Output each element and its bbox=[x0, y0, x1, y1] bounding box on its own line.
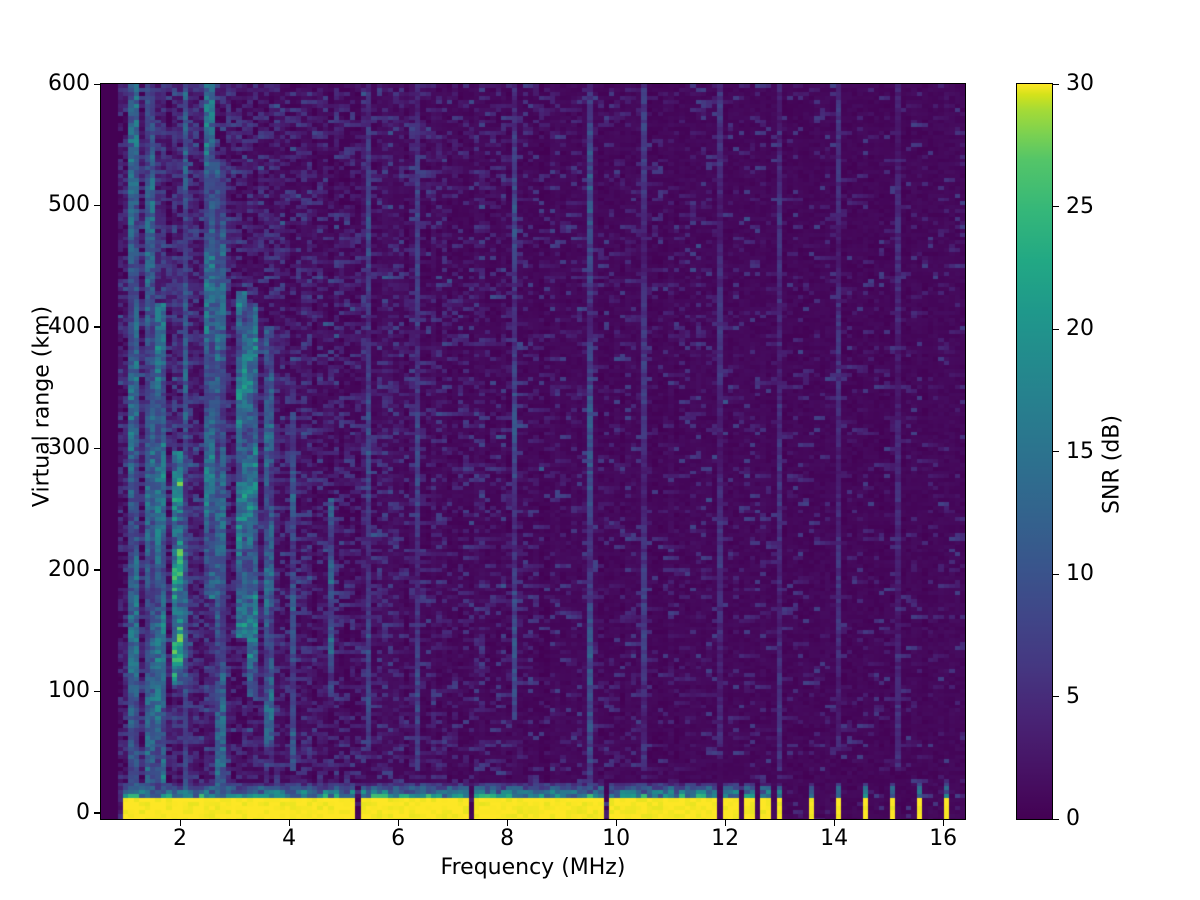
y-axis-tick-mark bbox=[94, 205, 100, 206]
y-axis-tick-mark bbox=[94, 448, 100, 449]
x-axis-tick-label: 10 bbox=[576, 828, 656, 850]
x-axis-tick-label: 14 bbox=[794, 828, 874, 850]
ionogram-figure: IRF Uppsala SDR Ionosonde UP158 2026-03-… bbox=[0, 0, 1200, 900]
colorbar-tick-mark bbox=[1053, 696, 1059, 697]
ionogram-heatmap-canvas[interactable] bbox=[101, 84, 965, 819]
colorbar-gradient bbox=[1017, 84, 1052, 819]
x-axis-tick-label: 12 bbox=[685, 828, 765, 850]
x-axis-label: Frequency (MHz) bbox=[100, 855, 966, 880]
y-axis-tick-mark bbox=[94, 84, 100, 85]
colorbar-tick-label: 20 bbox=[1066, 318, 1094, 340]
colorbar-tick-label: 5 bbox=[1066, 686, 1080, 708]
colorbar-tick-label: 10 bbox=[1066, 563, 1094, 585]
colorbar-label: SNR (dB) bbox=[1100, 305, 1125, 625]
y-axis-tick-label: 0 bbox=[76, 802, 90, 824]
colorbar-tick-label: 15 bbox=[1066, 441, 1094, 463]
y-axis-tick-label: 600 bbox=[48, 73, 90, 95]
colorbar-tick-label: 0 bbox=[1066, 808, 1080, 830]
y-axis-tick-mark bbox=[94, 326, 100, 327]
colorbar-tick-mark bbox=[1053, 574, 1059, 575]
colorbar-tick-mark bbox=[1053, 819, 1059, 820]
colorbar-tick-label: 30 bbox=[1066, 73, 1094, 95]
y-axis-tick-mark bbox=[94, 812, 100, 813]
x-axis-tick-label: 2 bbox=[140, 828, 220, 850]
x-axis-tick-label: 4 bbox=[249, 828, 329, 850]
colorbar[interactable] bbox=[1016, 83, 1053, 820]
x-axis-tick-label: 8 bbox=[467, 828, 547, 850]
colorbar-tick-mark bbox=[1053, 84, 1059, 85]
y-axis-label: Virtual range (km) bbox=[30, 197, 55, 617]
y-axis-tick-label: 100 bbox=[48, 680, 90, 702]
colorbar-tick-label: 25 bbox=[1066, 196, 1094, 218]
colorbar-tick-mark bbox=[1053, 329, 1059, 330]
y-axis-tick-mark bbox=[94, 569, 100, 570]
ionogram-plot-area[interactable] bbox=[100, 83, 966, 820]
colorbar-tick-mark bbox=[1053, 206, 1059, 207]
x-axis-tick-label: 16 bbox=[903, 828, 983, 850]
x-axis-tick-label: 6 bbox=[358, 828, 438, 850]
colorbar-tick-mark bbox=[1053, 451, 1059, 452]
y-axis-tick-mark bbox=[94, 691, 100, 692]
